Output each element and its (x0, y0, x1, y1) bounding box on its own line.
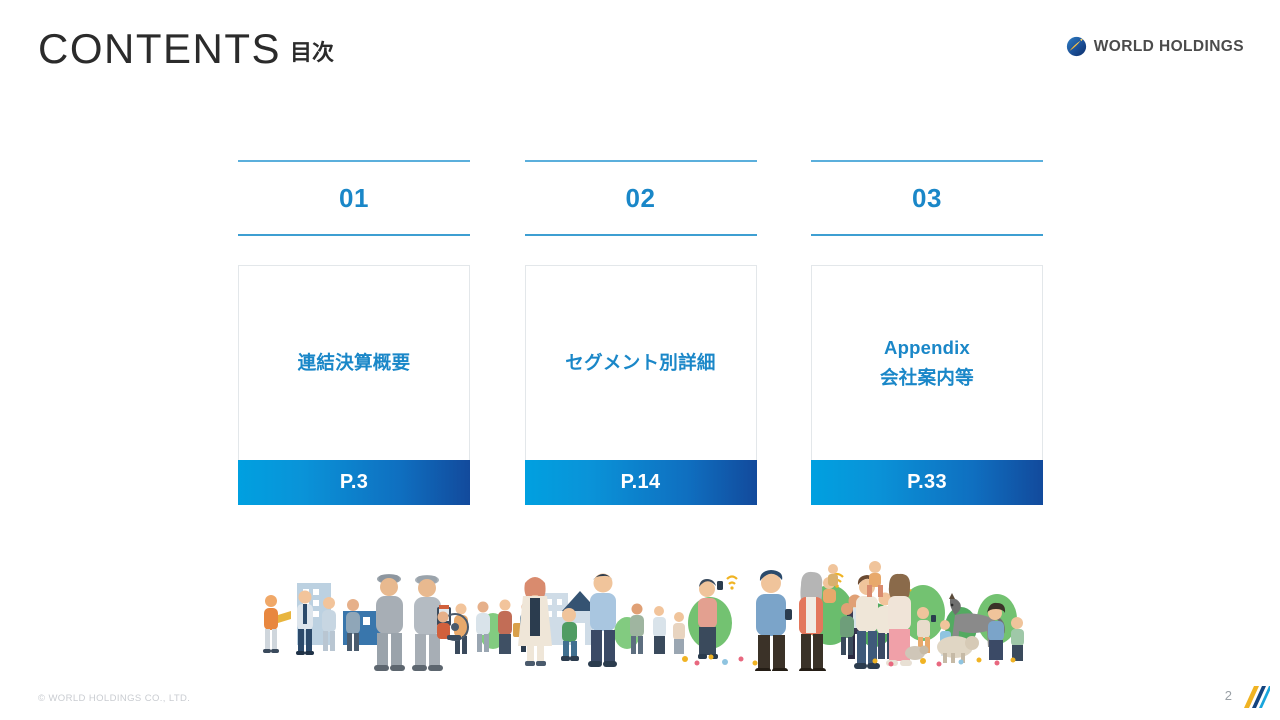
content-card-line: セグメント別詳細 (565, 352, 715, 373)
content-card-text: 連結決算概要 (298, 348, 411, 378)
content-card-text: Appendix 会社案内等 (880, 333, 974, 392)
content-card-text: セグメント別詳細 (565, 348, 715, 378)
content-card[interactable]: Appendix 会社案内等 (811, 265, 1043, 460)
three-diagonal-slashes-icon (1236, 684, 1270, 710)
page-title: CONTENTS (38, 28, 281, 70)
content-card-line: Appendix (884, 337, 970, 358)
column-number: 01 (238, 162, 470, 234)
page-reference-bar[interactable]: P.14 (525, 460, 757, 505)
company-logo: WORLD HOLDINGS (1066, 36, 1244, 57)
content-column-03[interactable]: 03 Appendix 会社案内等 P.33 (811, 160, 1043, 505)
globe-swoosh-icon (1066, 36, 1087, 57)
page-reference-label: P.14 (621, 471, 661, 494)
content-column-01[interactable]: 01 連結決算概要 P.3 (238, 160, 470, 505)
page-reference-bar[interactable]: P.33 (811, 460, 1043, 505)
content-column-02[interactable]: 02 セグメント別詳細 P.14 (525, 160, 757, 505)
page-reference-label: P.33 (907, 471, 947, 494)
column-number: 02 (525, 162, 757, 234)
page-title-japanese: 目次 (290, 42, 334, 64)
content-card[interactable]: 連結決算概要 (238, 265, 470, 460)
crowd-of-diverse-people-illustration (255, 553, 1030, 671)
contents-columns: 01 連結決算概要 P.3 02 セグメント別詳細 P.14 (238, 160, 1043, 505)
column-rule-bottom (238, 234, 470, 236)
content-card-line: 会社案内等 (880, 367, 974, 388)
page-reference-label: P.3 (340, 471, 368, 494)
slide-contents: CONTENTS 目次 (0, 0, 1280, 720)
column-rule-bottom (525, 234, 757, 236)
page-reference-bar[interactable]: P.3 (238, 460, 470, 505)
slide-page-number: 2 (1225, 688, 1232, 703)
slide-header: CONTENTS 目次 (0, 0, 1280, 100)
copyright-text: © WORLD HOLDINGS CO., LTD. (38, 693, 190, 704)
column-number: 03 (811, 162, 1043, 234)
content-card-line: 連結決算概要 (298, 352, 411, 373)
content-card[interactable]: セグメント別詳細 (525, 265, 757, 460)
company-logo-text: WORLD HOLDINGS (1094, 38, 1244, 56)
column-rule-bottom (811, 234, 1043, 236)
